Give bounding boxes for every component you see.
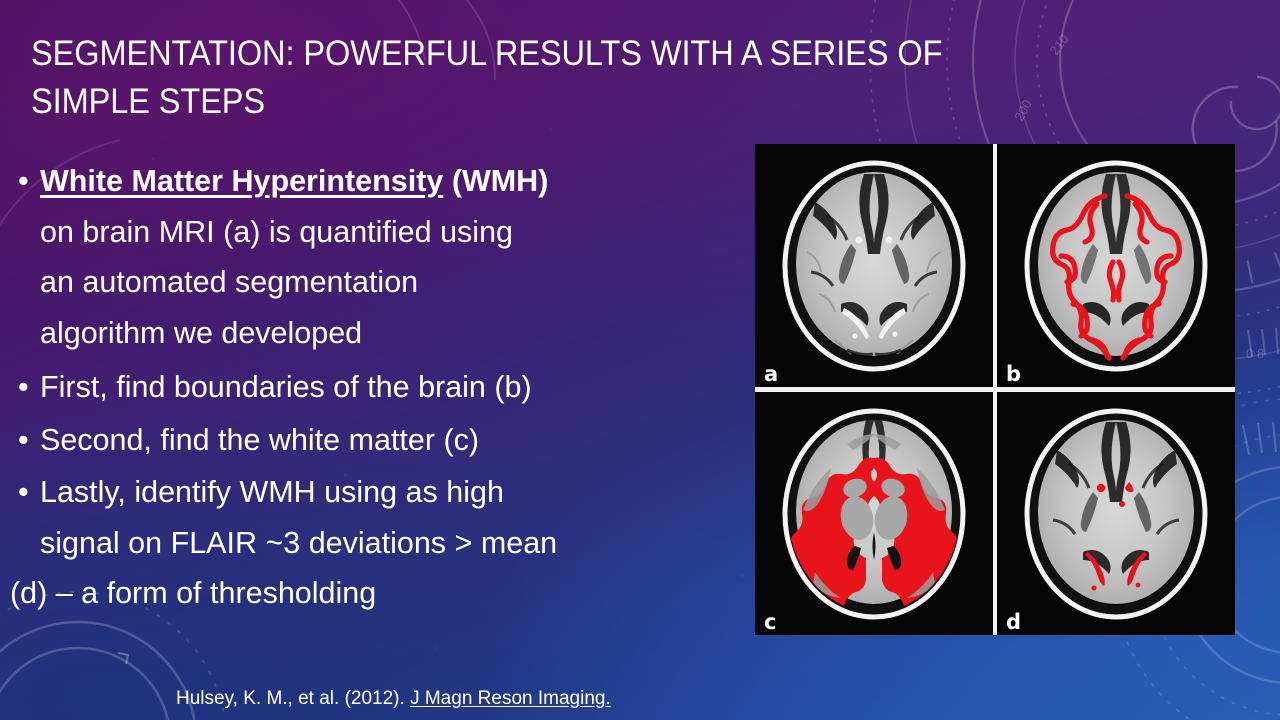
panel-label-b: b	[1006, 364, 1021, 385]
panel-label-d: d	[1006, 612, 1021, 633]
bullet-marker: •	[18, 156, 29, 207]
list-item: • Second, find the white matter (c)	[10, 415, 710, 466]
bullet-line: Second, find the white matter (c)	[40, 415, 710, 466]
citation-authors: Hulsey, K. M., et al. (2012).	[176, 688, 410, 709]
bullet-line: First, find boundaries of the brain (b)	[40, 362, 710, 413]
citation: Hulsey, K. M., et al. (2012). J Magn Res…	[176, 686, 611, 712]
bullet-marker: •	[18, 362, 29, 413]
slide: 200 210 180 0 8 170 0 SEGMENTATION: POWE…	[0, 0, 1280, 720]
panel-label-c: c	[764, 612, 776, 633]
list-item: • White Matter Hyperintensity (WMH) on b…	[10, 156, 710, 358]
bullet-list: • White Matter Hyperintensity (WMH) on b…	[10, 156, 710, 621]
mri-figure: a	[755, 144, 1235, 635]
bullet-lead-tail: (WMH)	[443, 164, 548, 198]
bullet-line: signal on FLAIR ~3 deviations > mean	[40, 518, 710, 569]
bullet-lead-line: White Matter Hyperintensity (WMH)	[40, 156, 710, 207]
bullet-line: on brain MRI (a) is quantified using	[40, 207, 710, 258]
bullet-marker: •	[18, 415, 29, 466]
figure-horizontal-divider	[755, 387, 1235, 392]
svg-text:0 8: 0 8	[1246, 346, 1264, 361]
mri-panel-a: a	[755, 144, 993, 387]
bullet-marker: •	[18, 467, 29, 518]
mri-panel-c: c	[755, 392, 993, 635]
list-item: • Lastly, identify WMH using as high sig…	[10, 467, 710, 619]
bullet-lead-underlined: White Matter Hyperintensity	[40, 164, 443, 198]
bullet-line: an automated segmentation	[40, 257, 710, 308]
mri-panel-d: d	[997, 392, 1235, 635]
bullet-line: algorithm we developed	[40, 308, 710, 359]
page-title: SEGMENTATION: POWERFUL RESULTS WITH A SE…	[31, 30, 1059, 126]
panel-label-a: a	[764, 364, 778, 385]
list-item: • First, find boundaries of the brain (b…	[10, 362, 710, 413]
citation-journal: J Magn Reson Imaging.	[410, 688, 611, 709]
bullet-line: (d) – a form of thresholding	[10, 568, 710, 619]
mri-panel-b: b	[997, 144, 1235, 387]
bullet-line: Lastly, identify WMH using as high	[40, 467, 710, 518]
